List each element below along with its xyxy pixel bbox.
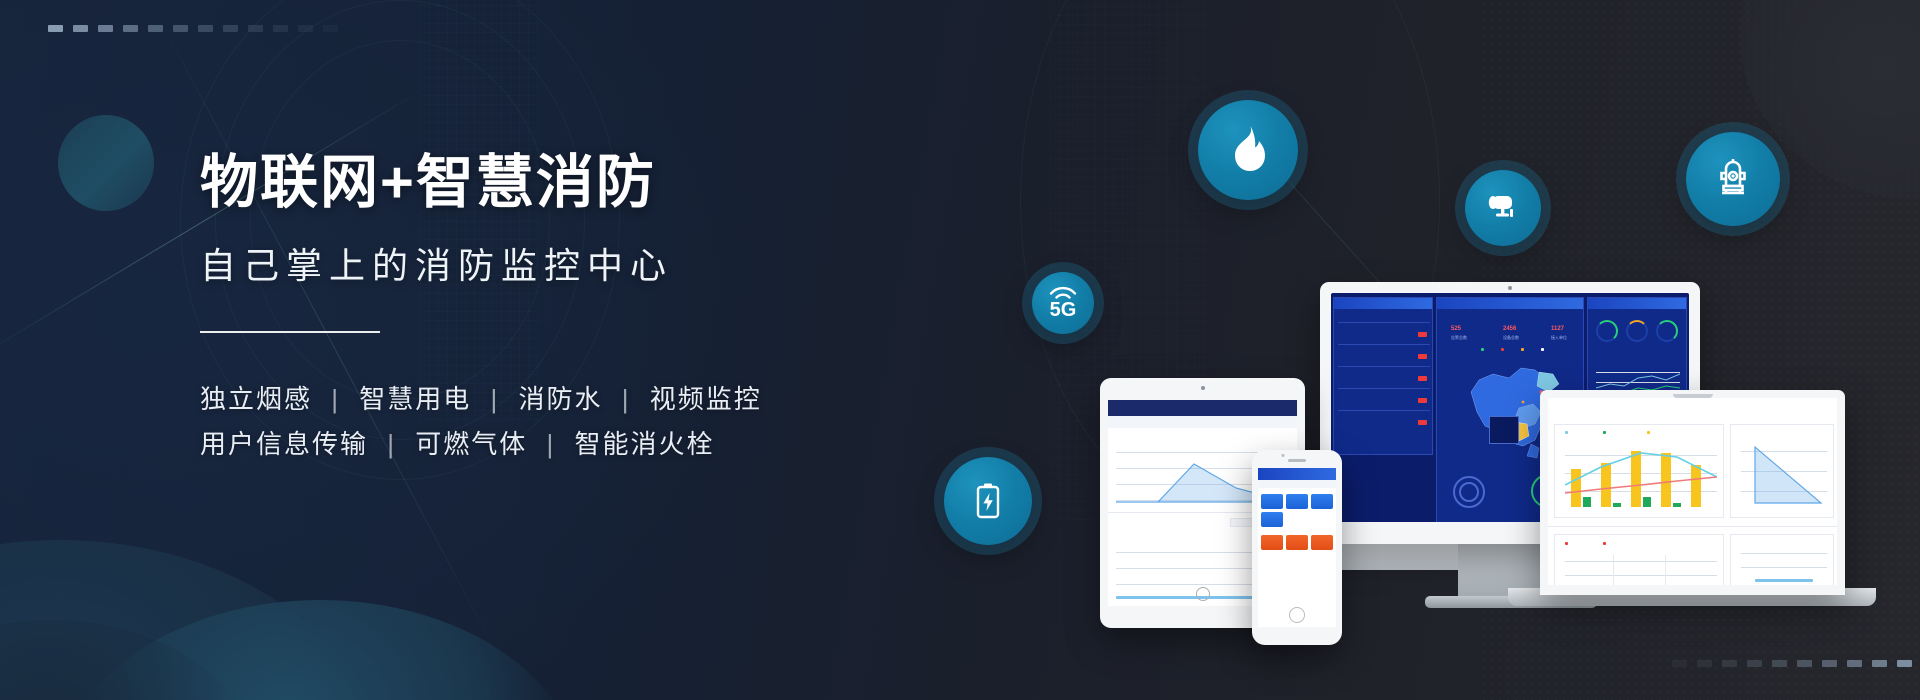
feature-separator: | — [612, 384, 641, 414]
kpi-label: 设备总数 — [1503, 335, 1519, 341]
flame-icon-badge — [1198, 100, 1298, 200]
legend-dot — [1565, 542, 1568, 545]
fire-hydrant-icon — [1713, 155, 1753, 203]
feature-item: 智慧用电 — [359, 384, 471, 414]
feature-item: 视频监控 — [650, 384, 762, 414]
status-chip — [1418, 420, 1427, 425]
wave-blob-decoration — [0, 540, 380, 700]
dash-mark — [273, 25, 288, 32]
panel-title-bar — [1588, 298, 1686, 309]
row-divider — [1338, 410, 1430, 411]
dash-mark — [248, 25, 263, 32]
phone-subbar — [1258, 480, 1336, 488]
feature-item: 独立烟感 — [200, 384, 312, 414]
feature-line: 独立烟感 | 智慧用电 | 消防水 | 视频监控 — [200, 377, 920, 423]
area-chart — [1745, 441, 1829, 507]
status-chip — [1418, 332, 1427, 337]
tablet-home-button[interactable] — [1196, 587, 1210, 601]
line-chart-overlay — [1565, 441, 1717, 507]
dashboard-panel-alarm-list — [1333, 297, 1433, 455]
kpi-value: 1127 — [1551, 326, 1564, 332]
radar-widget — [1459, 482, 1479, 502]
kpi-label: 接入单位 — [1551, 335, 1567, 341]
status-chip — [1418, 398, 1427, 403]
hero-banner: 物联网+智慧消防 自己掌上的消防监控中心 独立烟感 | 智慧用电 | 消防水 |… — [0, 0, 1920, 700]
battery-charge-icon-badge — [944, 457, 1032, 545]
legend-dot — [1481, 348, 1484, 351]
laptop-panel-small-chart — [1730, 534, 1834, 585]
tablet-navbar — [1108, 400, 1297, 416]
feature-item: 消防水 — [519, 384, 603, 414]
dash-mark — [1697, 660, 1712, 667]
dash-mark — [73, 25, 88, 32]
feature-separator: | — [321, 384, 350, 414]
phone-tile[interactable] — [1261, 494, 1283, 509]
fire-hydrant-icon-badge — [1686, 132, 1780, 226]
laptop — [1540, 390, 1845, 595]
dash-mark — [1897, 660, 1912, 667]
row-divider — [1338, 388, 1430, 389]
legend-dot — [1521, 348, 1524, 351]
chart-gridline — [1741, 553, 1827, 554]
row-divider — [1338, 366, 1430, 367]
5g-signal-icon: 5G — [1048, 285, 1078, 321]
5g-label: 5G — [1050, 299, 1077, 321]
feature-list: 独立烟感 | 智慧用电 | 消防水 | 视频监控 用户信息传输 | 可燃气体 |… — [200, 377, 920, 468]
dash-mark — [1797, 660, 1812, 667]
feature-separator: | — [377, 429, 406, 459]
laptop-panel-table — [1554, 534, 1724, 585]
row-divider — [1338, 322, 1430, 323]
circle-blob-decoration — [58, 115, 154, 211]
flame-icon — [1225, 125, 1271, 175]
chart-gridline — [1665, 555, 1666, 585]
hero-copy: 物联网+智慧消防 自己掌上的消防监控中心 独立烟感 | 智慧用电 | 消防水 |… — [200, 150, 920, 468]
dash-mark — [1772, 660, 1787, 667]
dash-mark — [1847, 660, 1862, 667]
phone-screen — [1258, 468, 1336, 627]
dash-mark — [223, 25, 238, 32]
chart-gridline — [1565, 561, 1717, 562]
legend-dot — [1603, 431, 1606, 434]
chart-gridline — [1613, 555, 1614, 585]
dash-mark — [123, 25, 138, 32]
status-chip — [1418, 354, 1427, 359]
feature-separator: | — [537, 429, 566, 459]
dash-mark — [198, 25, 213, 32]
title-divider — [200, 331, 380, 333]
dash-mark — [1722, 660, 1737, 667]
phone-tile[interactable] — [1311, 535, 1333, 550]
bar-item — [1755, 579, 1813, 582]
laptop-panel-combo-chart — [1554, 424, 1724, 518]
phone-tile[interactable] — [1261, 535, 1283, 550]
legend-dot — [1603, 542, 1606, 545]
chart-gridline — [1565, 575, 1717, 576]
phone-speaker — [1288, 459, 1306, 462]
page-subtitle: 自己掌上的消防监控中心 — [200, 237, 920, 289]
kpi-value: 2456 — [1503, 326, 1516, 332]
page-title: 物联网+智慧消防 — [200, 150, 920, 217]
panel-title-bar — [1437, 298, 1583, 309]
tablet-camera-dot — [1201, 386, 1205, 390]
phone-tile[interactable] — [1311, 494, 1333, 509]
battery-charge-icon — [973, 480, 1003, 522]
gauge-chart — [1626, 320, 1648, 342]
legend-dot — [1565, 431, 1568, 434]
dash-mark — [48, 25, 63, 32]
tablet-toolbar — [1108, 416, 1297, 428]
kpi-value: 525 — [1451, 326, 1461, 332]
5g-signal-icon-badge: 5G — [1032, 272, 1094, 334]
row-divider — [1338, 344, 1430, 345]
cctv-camera-icon-badge — [1465, 170, 1541, 246]
dash-mark — [323, 25, 338, 32]
dash-row-bottom-right — [1672, 660, 1920, 667]
panel-title-bar — [1334, 298, 1432, 309]
laptop-panel-decline-chart — [1730, 424, 1834, 518]
legend-dot — [1647, 431, 1650, 434]
monitor-camera-dot — [1508, 286, 1512, 290]
laptop-screen — [1548, 398, 1837, 585]
gauge-chart — [1656, 320, 1678, 342]
phone-navbar — [1258, 468, 1336, 480]
feature-item: 可燃气体 — [415, 429, 527, 459]
feature-line: 用户信息传输 | 可燃气体 | 智能消火栓 — [200, 422, 920, 468]
feature-item: 智能消火栓 — [575, 429, 715, 459]
feature-separator: | — [481, 384, 510, 414]
dash-mark — [298, 25, 313, 32]
legend-dot — [1541, 348, 1544, 351]
phone-tile[interactable] — [1286, 494, 1308, 509]
kpi-label: 告警总数 — [1451, 335, 1467, 341]
phone-tile[interactable] — [1286, 535, 1308, 550]
phone-tile[interactable] — [1261, 512, 1283, 527]
smartphone — [1252, 450, 1342, 645]
feature-item: 用户信息传输 — [200, 429, 368, 459]
dash-row-top-left — [48, 25, 338, 32]
dash-mark — [1672, 660, 1687, 667]
legend-dot — [1501, 348, 1504, 351]
phone-camera-dot — [1282, 454, 1285, 457]
map-tooltip — [1489, 416, 1519, 444]
dash-mark — [98, 25, 113, 32]
dash-mark — [1822, 660, 1837, 667]
chart-gridline — [1741, 567, 1827, 568]
section-divider — [1548, 526, 1837, 527]
dash-mark — [1872, 660, 1887, 667]
dash-mark — [173, 25, 188, 32]
wave-blob-decoration — [0, 620, 260, 700]
dash-mark — [148, 25, 163, 32]
cctv-camera-icon — [1484, 191, 1522, 225]
device-showcase: 525 2456 1127 告警总数 设备总数 接入单位 — [1100, 270, 1860, 600]
wave-blob-decoration — [60, 600, 580, 700]
dash-mark — [1747, 660, 1762, 667]
status-chip — [1418, 376, 1427, 381]
gauge-chart — [1596, 320, 1618, 342]
phone-home-button[interactable] — [1289, 607, 1305, 623]
